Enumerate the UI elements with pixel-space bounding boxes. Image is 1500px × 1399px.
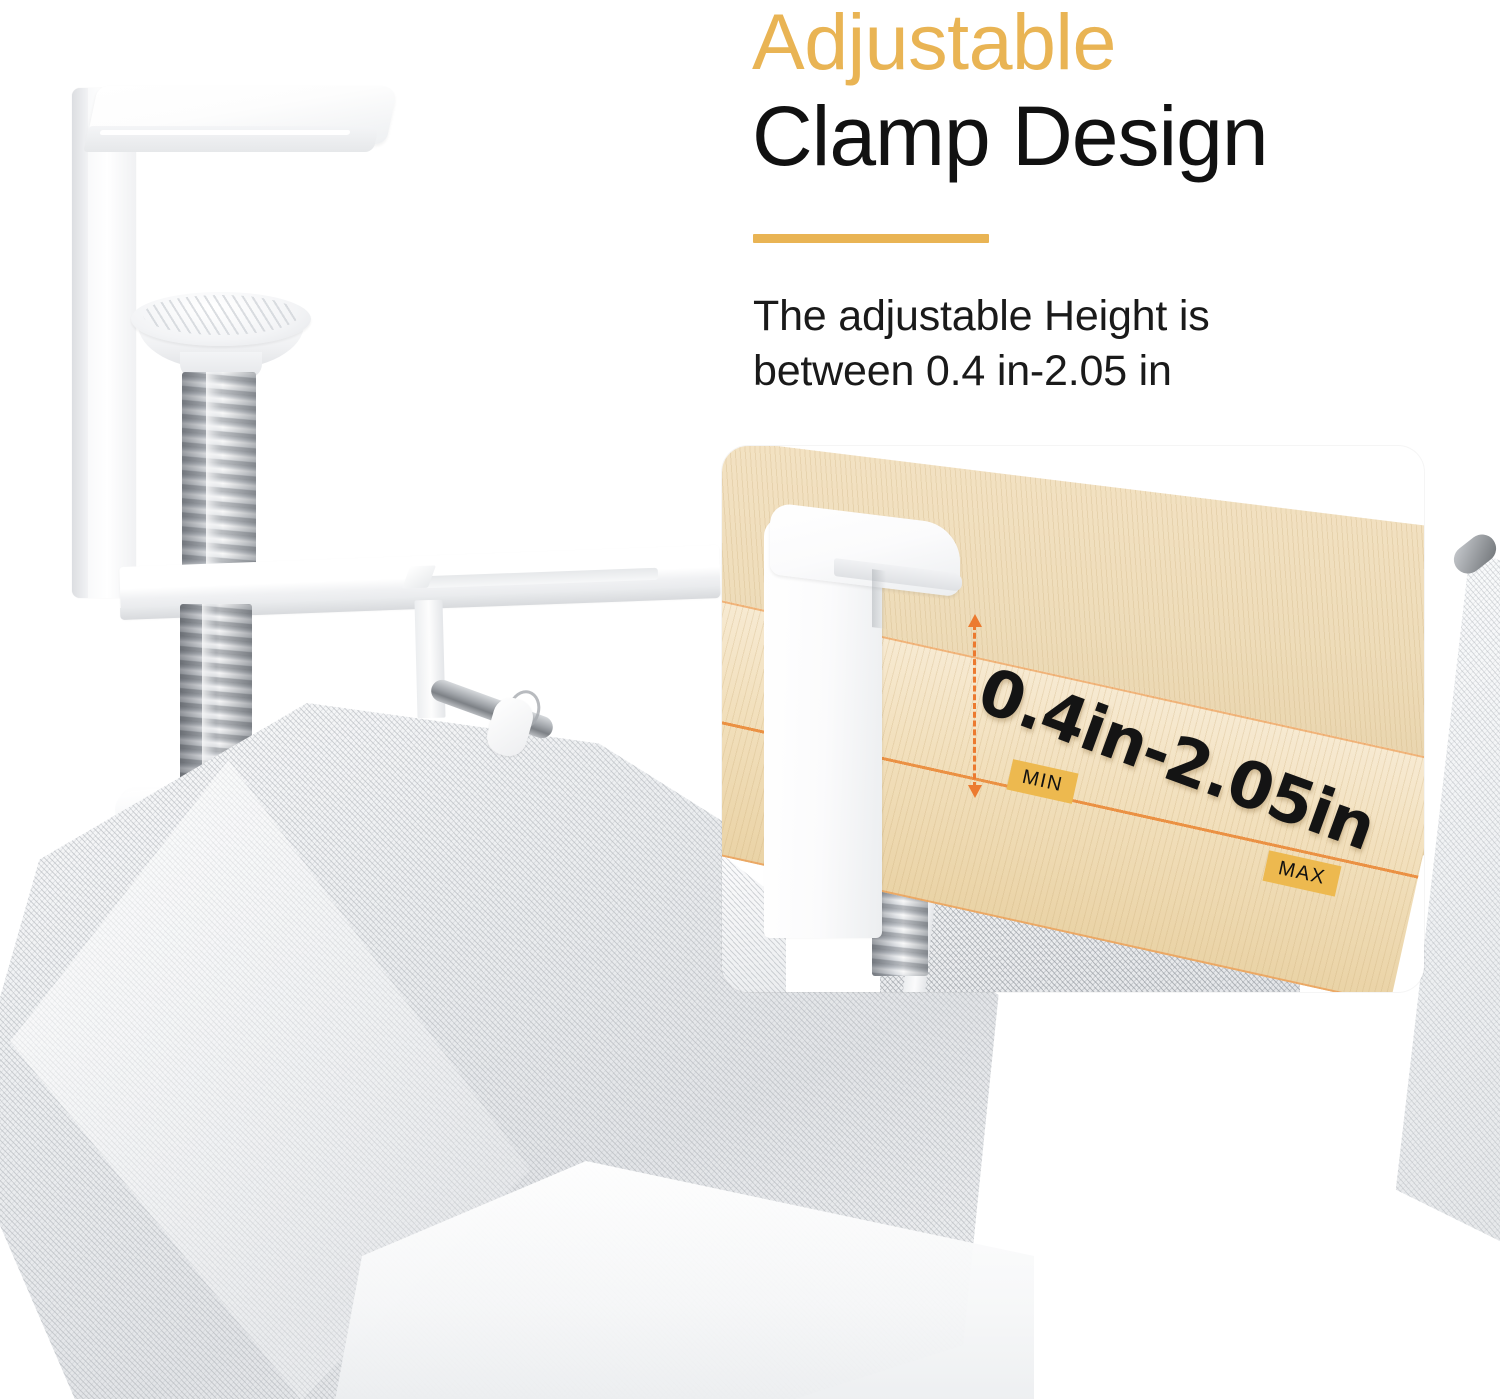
inset-clamp-inner-shadow bbox=[872, 569, 886, 629]
subtitle-line-1: The adjustable Height is bbox=[753, 289, 1393, 344]
clamp-top-pad-highlight bbox=[99, 130, 350, 135]
clamp-body-shadow bbox=[72, 88, 88, 598]
detail-inset-panel: 0.4in-2.05in MIN MAX bbox=[722, 446, 1424, 992]
accent-divider bbox=[753, 234, 989, 243]
subtitle-line-2: between 0.4 in-2.05 in bbox=[753, 344, 1393, 399]
threaded-screw-upper-highlight bbox=[206, 372, 222, 586]
knob-knurl-texture bbox=[143, 295, 299, 335]
headline-block: Adjustable Clamp Design bbox=[752, 0, 1452, 184]
headline-line-2: Clamp Design bbox=[752, 88, 1452, 184]
arrow-head-up-icon bbox=[968, 614, 982, 627]
arrow-head-down-icon bbox=[968, 785, 982, 798]
headline-line-1: Adjustable bbox=[752, 0, 1452, 88]
subtitle-block: The adjustable Height is between 0.4 in-… bbox=[753, 289, 1393, 399]
infographic-canvas: Adjustable Clamp Design The adjustable H… bbox=[0, 0, 1500, 1399]
product-photo-clamp bbox=[0, 0, 760, 1399]
